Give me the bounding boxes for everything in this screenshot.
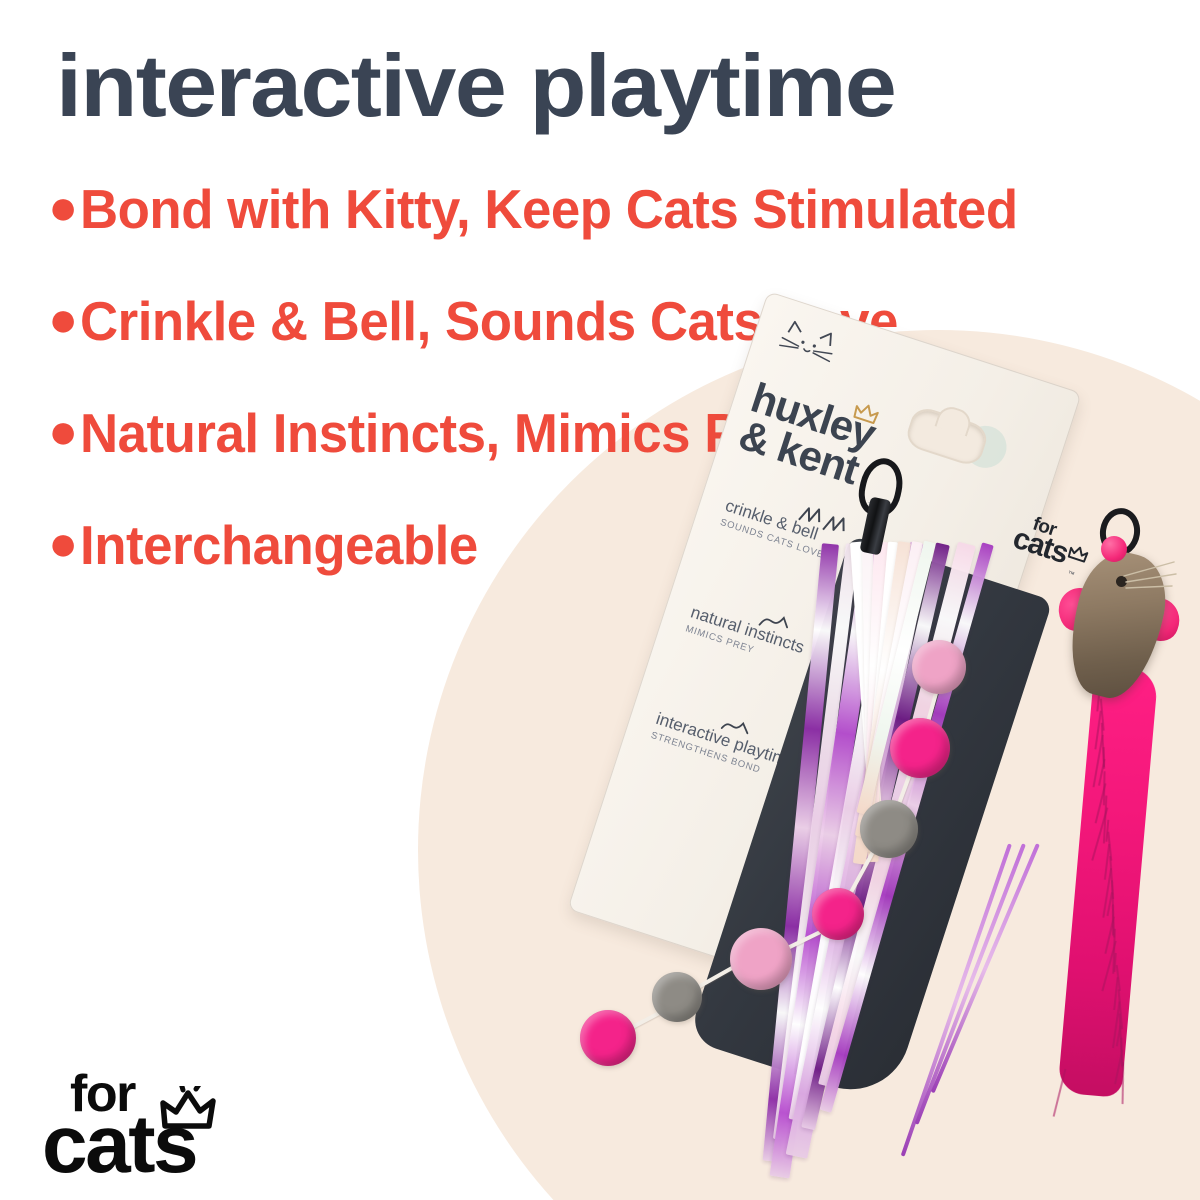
brand-logo-for-cats: for cats — [42, 1068, 292, 1186]
pom-pom — [860, 800, 918, 858]
fur-wisp — [1121, 1062, 1124, 1104]
pom-pom — [580, 1010, 636, 1066]
pom-pom — [652, 972, 702, 1022]
bullet-text: Bond with Kitty, Keep Cats Stimulated — [80, 182, 1018, 237]
bullet-dot-icon: ● — [48, 406, 78, 456]
page-title: interactive playtime — [56, 42, 1200, 130]
pom-pom — [890, 718, 950, 778]
bullet-dot-icon: ● — [48, 294, 78, 344]
product-marketing-image: interactive playtime ● Bond with Kitty, … — [0, 0, 1200, 1200]
crown-icon — [160, 1086, 218, 1132]
mouse-nose-pom — [1101, 536, 1127, 562]
pom-pom — [812, 888, 864, 940]
product-photo: huxley & kent ™ crinkle & bell SOUNDS CA… — [560, 330, 1200, 1200]
bullet-dot-icon: ● — [48, 182, 78, 232]
list-item: ● Bond with Kitty, Keep Cats Stimulated — [48, 182, 1158, 294]
pom-pom — [730, 928, 792, 990]
bullet-dot-icon: ● — [48, 518, 78, 568]
mouse-whiskers — [1120, 560, 1180, 600]
pom-pom — [912, 640, 966, 694]
bullet-text: Interchangeable — [80, 518, 478, 573]
